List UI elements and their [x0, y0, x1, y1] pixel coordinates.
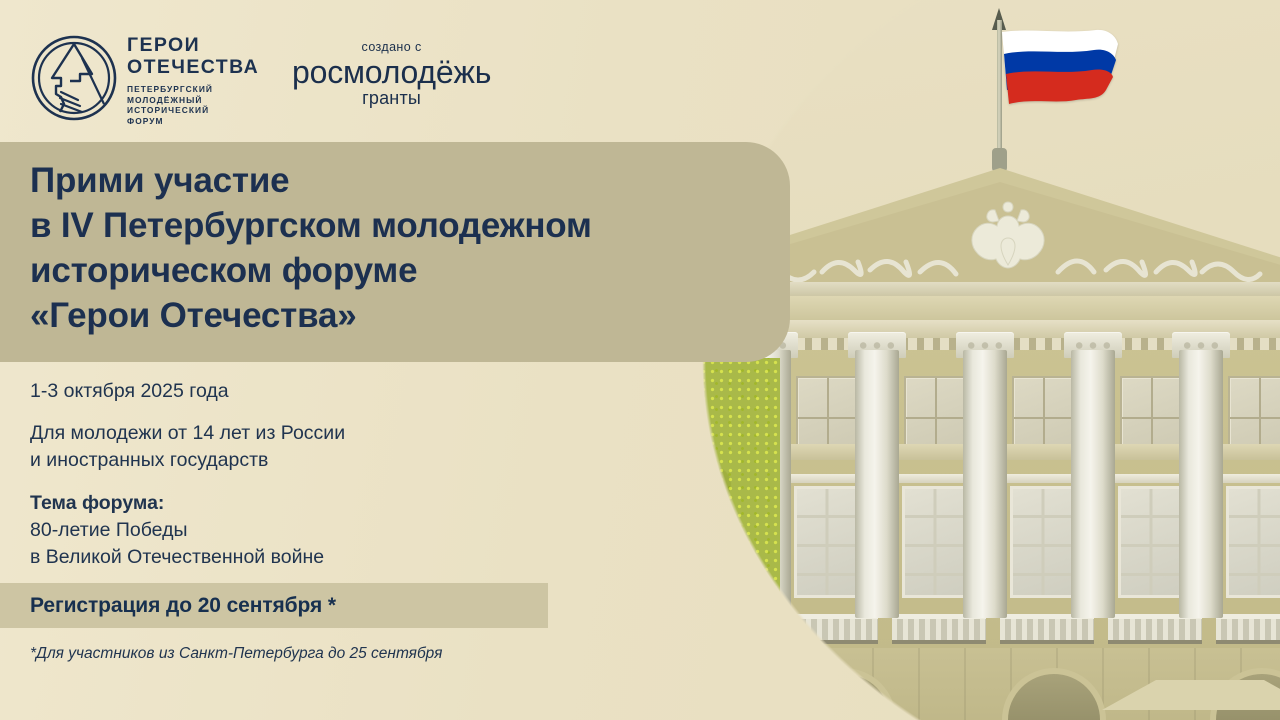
logo-title-line1: ГЕРОИ [127, 34, 259, 56]
registration-deadline: Регистрация до 20 сентября * [30, 594, 336, 618]
forum-logo: ГЕРОИ ОТЕЧЕСТВА ПЕТЕРБУРГСКИЙ МОЛОДЁЖНЫЙ… [30, 30, 259, 126]
logo-subtitle: ПЕТЕРБУРГСКИЙ МОЛОДЁЖНЫЙ ИСТОРИЧЕСКИЙ ФО… [127, 84, 259, 126]
lower-window [1118, 486, 1184, 598]
soldier-profile-emblem-icon [30, 34, 118, 122]
column [1179, 350, 1223, 618]
balustrade [1000, 614, 1094, 644]
rosmolodezh-grants-logo: создано с росмолодёжь гранты [292, 40, 491, 109]
grants-brand-name: росмолодёжь [292, 55, 491, 89]
event-date: 1-3 октября 2025 года [30, 378, 345, 404]
theme-label: Тема форума: [30, 490, 345, 517]
event-details: 1-3 октября 2025 года Для молодежи от 14… [30, 378, 345, 571]
logo-title-line2: ОТЕЧЕСТВА [127, 56, 259, 78]
grants-created-with-label: создано с [292, 40, 491, 54]
lower-window [794, 486, 860, 598]
door-pediment [1102, 680, 1280, 710]
page-title: Прими участие в IV Петербургском молодеж… [30, 158, 592, 338]
balustrade [784, 614, 878, 644]
footnote: *Для участников из Санкт-Петербурга до 2… [30, 645, 442, 663]
balustrade [892, 614, 986, 644]
event-audience: Для молодежи от 14 лет из России и иност… [30, 420, 345, 474]
russian-flag-icon [1000, 28, 1120, 108]
tree [510, 358, 780, 720]
column [963, 350, 1007, 618]
grants-subtitle: гранты [292, 88, 491, 109]
balustrade [1108, 614, 1202, 644]
column [1071, 350, 1115, 618]
promo-poster: ГЕРОИ ОТЕЧЕСТВА ПЕТЕРБУРГСКИЙ МОЛОДЁЖНЫЙ… [0, 0, 1280, 720]
column [855, 350, 899, 618]
lamp-post [608, 530, 615, 720]
tree-foliage-texture [510, 358, 780, 720]
pediment-ornament [740, 246, 1270, 282]
lower-window [902, 486, 968, 598]
balustrade [1216, 614, 1280, 644]
lamp-base [601, 628, 622, 644]
window-hood [1222, 474, 1280, 483]
lower-window [1010, 486, 1076, 598]
theme-text: 80-летие Победы в Великой Отечественной … [30, 517, 345, 571]
lower-window [1226, 486, 1280, 598]
